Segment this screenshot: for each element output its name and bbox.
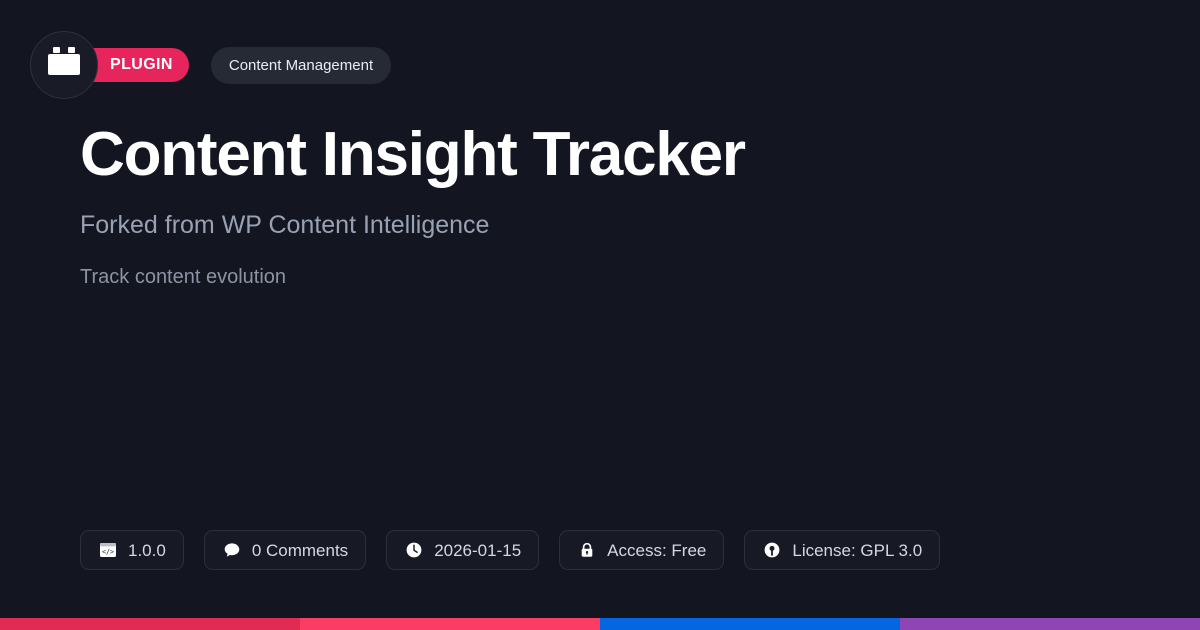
code-window-icon: </> xyxy=(98,540,118,560)
meta-chip-license-label: License: GPL 3.0 xyxy=(792,542,922,559)
meta-chip-access: Access: Free xyxy=(559,530,724,570)
lock-icon xyxy=(577,540,597,560)
forked-from-label: Forked from WP Content Intelligence xyxy=(80,209,489,242)
meta-chip-comments: 0 Comments xyxy=(204,530,366,570)
plug-icon xyxy=(46,47,82,84)
page-title: Content Insight Tracker xyxy=(80,122,745,187)
meta-row: </> 1.0.0 0 Comments 2026-01-15 xyxy=(80,530,940,570)
open-source-icon xyxy=(762,540,782,560)
accent-segment-2 xyxy=(300,618,600,630)
category-chip[interactable]: Content Management xyxy=(211,47,391,84)
tagline: Track content evolution xyxy=(80,264,286,290)
meta-chip-license: License: GPL 3.0 xyxy=(744,530,940,570)
meta-chip-date: 2026-01-15 xyxy=(386,530,539,570)
plugin-hero-card: PLUGIN Content Management Content Insigh… xyxy=(0,0,1200,630)
accent-segment-4 xyxy=(900,618,1200,630)
comment-icon xyxy=(222,540,242,560)
meta-chip-comments-label: 0 Comments xyxy=(252,542,348,559)
meta-chip-version: </> 1.0.0 xyxy=(80,530,184,570)
plugin-avatar xyxy=(30,31,98,99)
header-row: PLUGIN Content Management xyxy=(30,30,391,100)
accent-segment-3 xyxy=(600,618,900,630)
accent-strip xyxy=(0,618,1200,630)
meta-chip-version-label: 1.0.0 xyxy=(128,542,166,559)
clock-icon xyxy=(404,540,424,560)
accent-segment-1 xyxy=(0,618,300,630)
meta-chip-date-label: 2026-01-15 xyxy=(434,542,521,559)
meta-chip-access-label: Access: Free xyxy=(607,542,706,559)
svg-text:</>: </> xyxy=(102,548,114,556)
